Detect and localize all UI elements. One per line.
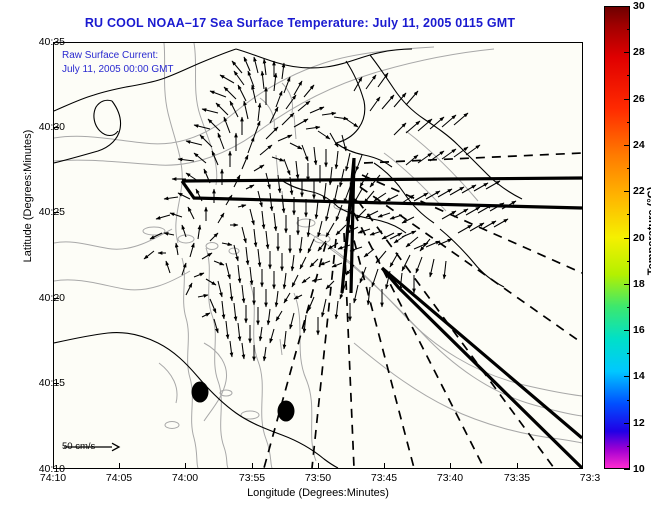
- map-canvas: [54, 43, 582, 468]
- y-tick-label: 40:30: [39, 121, 65, 133]
- colorbar-tick-mark: [624, 52, 630, 53]
- colorbar-tick-mark: [624, 191, 630, 192]
- colorbar-minor-tick: [627, 446, 630, 447]
- y-tick-label: 40:25: [39, 206, 65, 218]
- colorbar-tick-label: 20: [633, 232, 645, 244]
- x-tick-label: 73:50: [305, 472, 331, 484]
- x-tick-mark: [252, 463, 253, 469]
- colorbar-tick-label: 18: [633, 278, 645, 290]
- colorbar-tick-mark: [624, 423, 630, 424]
- colorbar-minor-tick: [627, 214, 630, 215]
- map-plot-area[interactable]: Raw Surface Current: July 11, 2005 00:00…: [53, 42, 583, 469]
- colorbar-tick-mark: [624, 145, 630, 146]
- screenshot-root: RU COOL NOAA–17 Sea Surface Temperature:…: [0, 0, 651, 518]
- colorbar-minor-tick: [627, 168, 630, 169]
- x-tick-mark: [450, 463, 451, 469]
- colorbar-tick-mark: [624, 330, 630, 331]
- colorbar-minor-tick: [627, 353, 630, 354]
- x-tick-mark: [384, 463, 385, 469]
- colorbar-tick-mark: [624, 284, 630, 285]
- colorbar-tick-label: 14: [633, 370, 645, 382]
- y-tick-label: 40:35: [39, 36, 65, 48]
- y-tick-mark: [53, 383, 59, 384]
- page-title: RU COOL NOAA–17 Sea Surface Temperature:…: [0, 16, 600, 30]
- current-annotation: Raw Surface Current: July 11, 2005 00:00…: [62, 49, 174, 77]
- colorbar-minor-tick: [627, 29, 630, 30]
- y-tick-mark: [53, 212, 59, 213]
- x-tick-mark: [185, 463, 186, 469]
- colorbar-tick-label: 24: [633, 139, 645, 151]
- colorbar-tick-mark: [624, 6, 630, 7]
- annotation-line-1: Raw Surface Current:: [62, 49, 174, 63]
- colorbar-tick-mark: [624, 238, 630, 239]
- colorbar-minor-tick: [627, 307, 630, 308]
- colorbar-title: Temperature (°C): [646, 151, 651, 311]
- y-tick-label: 40:15: [39, 377, 65, 389]
- station-marker-east: [278, 401, 295, 422]
- scale-bar-arrow-icon: [62, 441, 122, 453]
- radar-coverage-wedges: [182, 158, 582, 468]
- surface-current-vectors: [144, 57, 516, 361]
- colorbar-tick-mark: [624, 99, 630, 100]
- colorbar-minor-tick: [627, 400, 630, 401]
- colorbar-tick-label: 28: [633, 46, 645, 58]
- station-marker-west: [192, 382, 209, 403]
- colorbar-minor-tick: [627, 75, 630, 76]
- y-axis-title: Latitude (Degrees:Minutes): [22, 96, 34, 296]
- colorbar-tick-mark: [624, 376, 630, 377]
- x-tick-label: 73:40: [437, 472, 463, 484]
- velocity-scale-bar: 50 cm/s: [62, 441, 95, 454]
- radar-station-markers: [192, 382, 295, 422]
- x-tick-label: 73:45: [371, 472, 397, 484]
- annotation-line-2: July 11, 2005 00:00 GMT: [62, 63, 174, 77]
- y-tick-mark: [53, 127, 59, 128]
- x-tick-mark: [119, 463, 120, 469]
- colorbar-tick-label: 30: [633, 0, 645, 12]
- x-tick-label: 74:10: [40, 472, 66, 484]
- x-tick-label: 73:55: [239, 472, 265, 484]
- colorbar-tick-label: 22: [633, 185, 645, 197]
- x-tick-label: 74:05: [106, 472, 132, 484]
- x-tick-label: 73:3: [580, 472, 600, 484]
- colorbar-tick-label: 12: [633, 417, 645, 429]
- colorbar-minor-tick: [627, 261, 630, 262]
- colorbar-tick-label: 26: [633, 93, 645, 105]
- x-axis-title: Longitude (Degrees:Minutes): [53, 487, 583, 499]
- x-tick-label: 73:35: [504, 472, 530, 484]
- y-tick-mark: [53, 298, 59, 299]
- y-tick-label: 40:20: [39, 292, 65, 304]
- colorbar-tick-mark: [624, 469, 630, 470]
- colorbar-tick-label: 16: [633, 324, 645, 336]
- colorbar-minor-tick: [627, 122, 630, 123]
- x-tick-label: 74:00: [172, 472, 198, 484]
- x-tick-mark: [318, 463, 319, 469]
- colorbar-tick-label: 10: [633, 463, 645, 475]
- x-tick-mark: [517, 463, 518, 469]
